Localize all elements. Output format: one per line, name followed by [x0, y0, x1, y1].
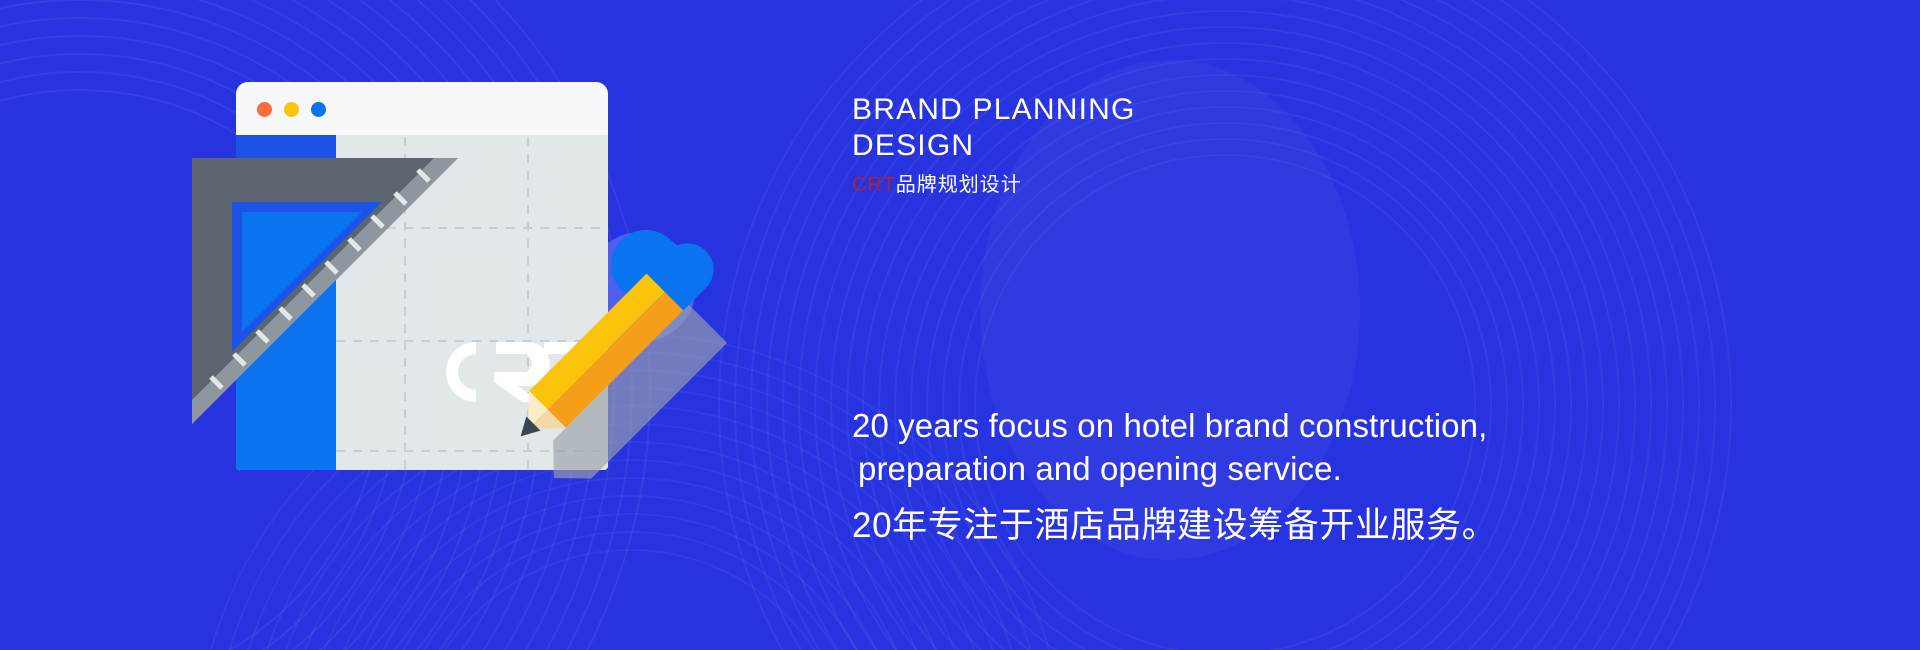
tagline-en-line-2: preparation and opening service. [852, 447, 1752, 490]
minimize-dot-icon[interactable] [284, 102, 299, 117]
brand-abbrev-crt: CRT [852, 174, 896, 196]
headline-line-1: BRAND PLANNING [852, 92, 1452, 128]
pencil-illustration [516, 227, 736, 497]
pencil-svg [516, 227, 736, 497]
tagline-en-line-1: 20 years focus on hotel brand constructi… [852, 404, 1752, 447]
brand-subtitle-cn: 品牌规划设计 [896, 174, 1022, 196]
tagline-block: 20 years focus on hotel brand constructi… [852, 404, 1752, 548]
headline-line-2: DESIGN [852, 128, 1452, 164]
headline-block: BRAND PLANNING DESIGN CRT品牌规划设计 [852, 92, 1452, 198]
maximize-dot-icon[interactable] [311, 102, 326, 117]
triangle-ruler [186, 152, 486, 442]
headline-subtitle: CRT品牌规划设计 [852, 172, 1452, 198]
brand-banner: BRAND PLANNING DESIGN CRT品牌规划设计 20 years… [0, 0, 1920, 650]
brand-design-illustration [186, 62, 696, 532]
triangle-ruler-svg [186, 152, 486, 442]
browser-title-bar [236, 82, 608, 135]
close-dot-icon[interactable] [257, 102, 272, 117]
tagline-cn: 20年专注于酒店品牌建设筹备开业服务。 [852, 504, 1752, 548]
